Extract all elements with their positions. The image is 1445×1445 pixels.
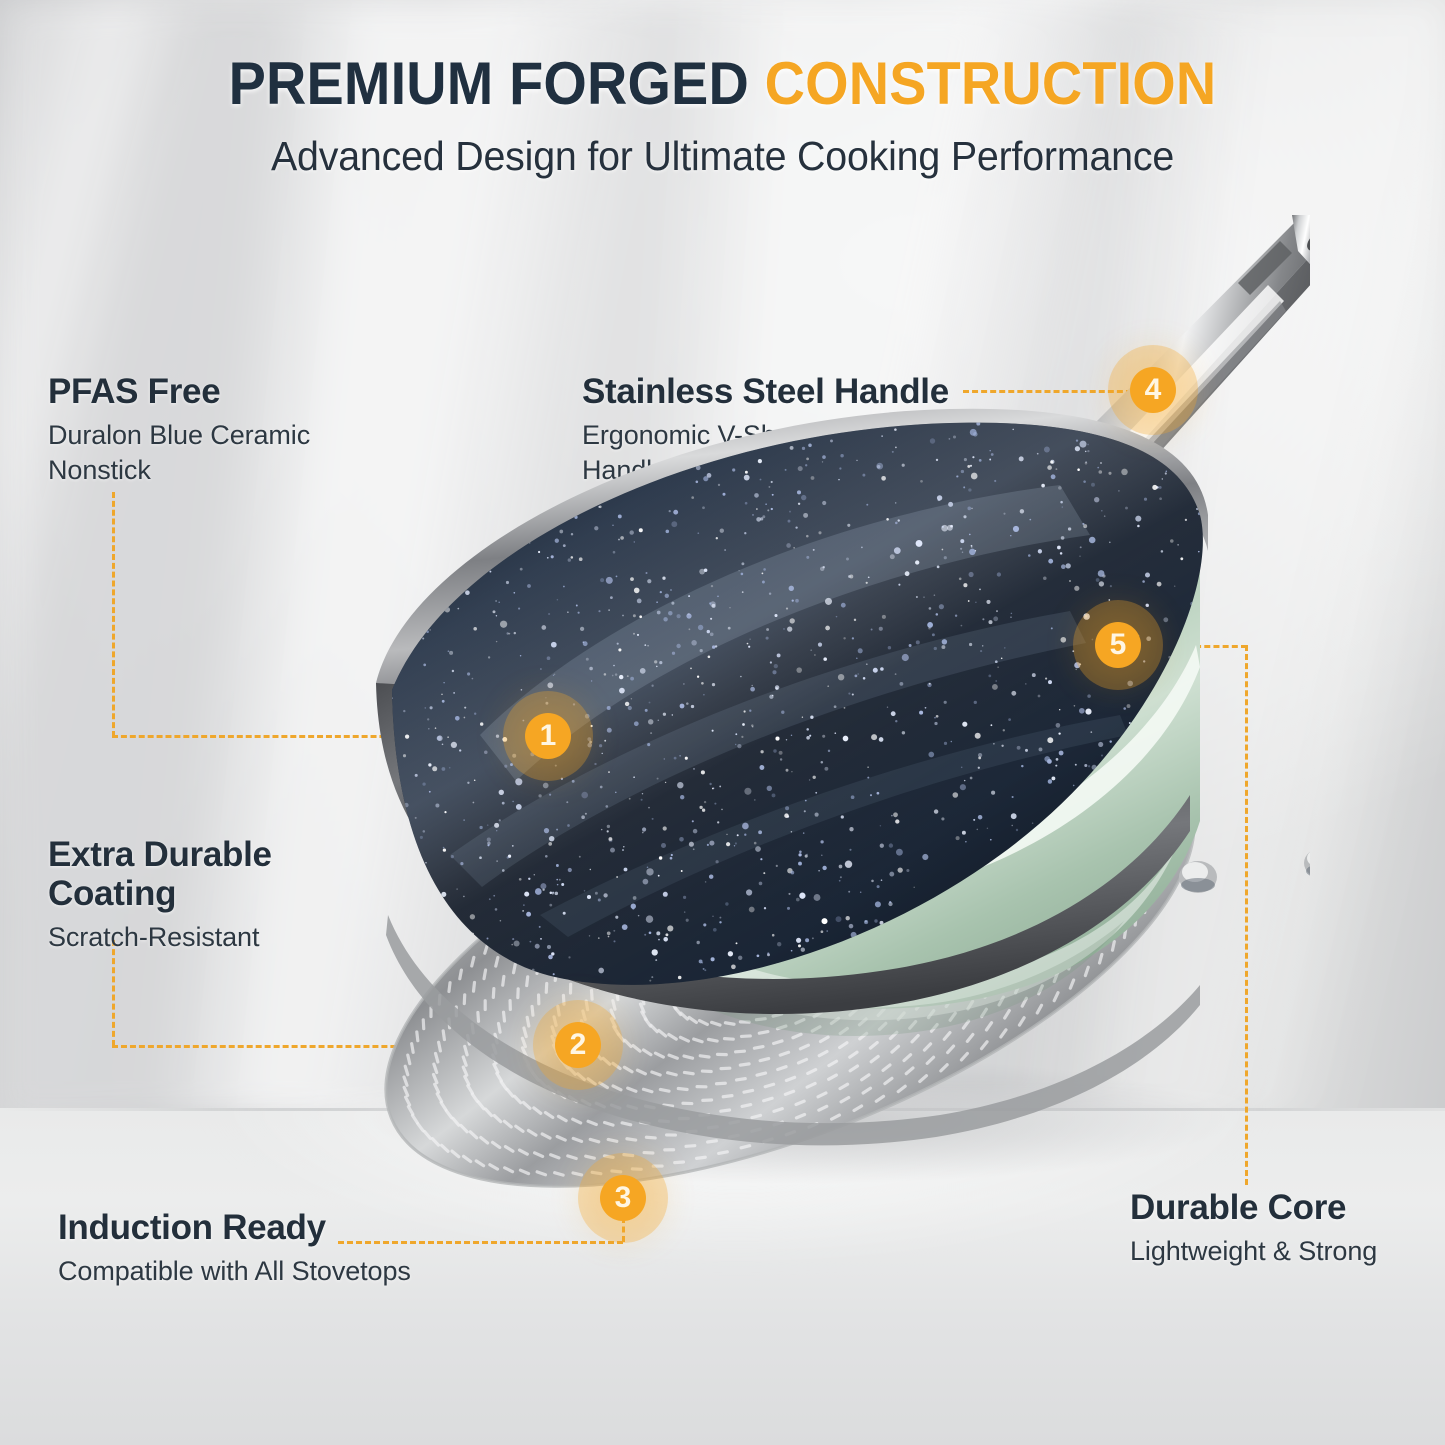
callout-5-subtitle: Lightweight & Strong xyxy=(1130,1234,1430,1269)
infographic-stage: PREMIUM FORGED CONSTRUCTION Advanced Des… xyxy=(0,0,1445,1445)
page-title: PREMIUM FORGED CONSTRUCTION xyxy=(51,52,1395,115)
hotspot-badge-2[interactable]: 2 xyxy=(555,1022,601,1068)
header: PREMIUM FORGED CONSTRUCTION Advanced Des… xyxy=(0,52,1445,180)
page-subtitle: Advanced Design for Ultimate Cooking Per… xyxy=(29,133,1416,180)
callout-3-subtitle: Compatible with All Stovetops xyxy=(58,1254,478,1289)
hotspot-badge-4[interactable]: 4 xyxy=(1130,367,1176,413)
hotspot-badge-5[interactable]: 5 xyxy=(1095,622,1141,668)
page-title-accent: CONSTRUCTION xyxy=(765,50,1217,117)
stainless-rivets xyxy=(1179,848,1310,893)
page-title-dark: PREMIUM FORGED xyxy=(229,50,749,117)
hotspot-badge-1[interactable]: 1 xyxy=(525,713,571,759)
hotspot-badge-3[interactable]: 3 xyxy=(600,1175,646,1221)
